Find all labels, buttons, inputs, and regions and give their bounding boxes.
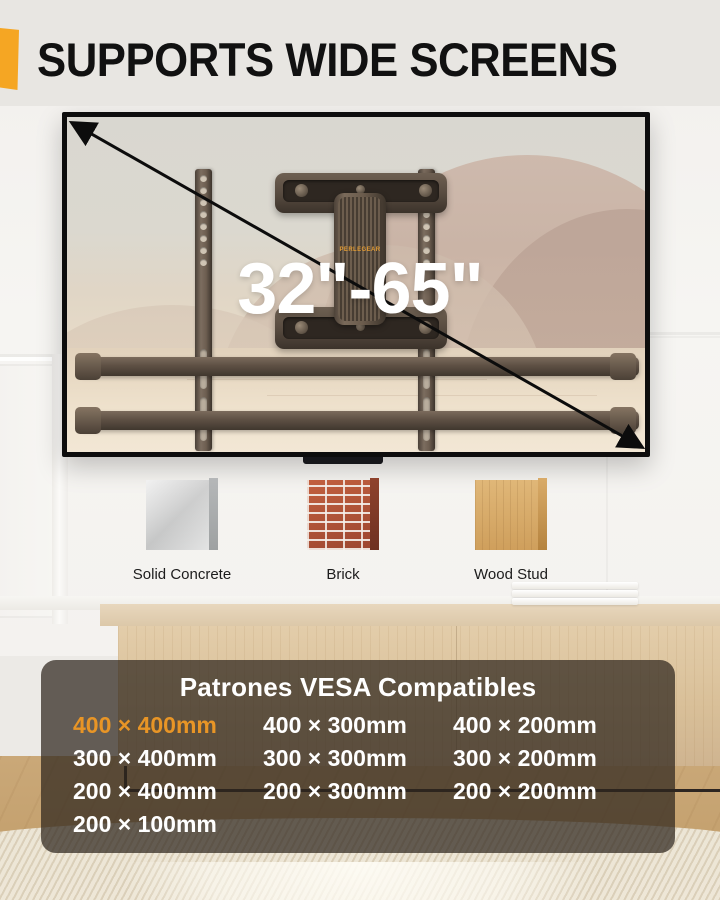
vesa-pattern: 200 × 100mm [73,808,263,841]
page-title: SUPPORTS WIDE SCREENS [37,32,617,87]
sand-ridge [187,379,487,380]
vesa-pattern: 400 × 200mm [453,709,643,742]
sand-foreground [67,348,645,452]
vesa-row: 200 × 400mm 200 × 300mm 200 × 200mm [73,775,643,808]
vesa-patterns-panel: Patrones VESA Compatibles 400 × 400mm 40… [41,660,675,853]
tv-bottom-tab [303,457,383,464]
product-infographic: SUPPORTS WIDE SCREENS [0,0,720,900]
vesa-pattern: 200 × 400mm [73,775,263,808]
orange-accent-icon [0,28,19,90]
vesa-panel-title: Patrones VESA Compatibles [41,672,675,703]
brick-tile-icon [307,478,379,550]
material-item-concrete: Solid Concrete [92,478,272,583]
vesa-pattern: 300 × 200mm [453,742,643,775]
vesa-pattern: 400 × 400mm [73,709,263,742]
wood-tile-icon [475,478,547,550]
material-label: Solid Concrete [92,566,272,583]
vesa-pattern: 200 × 300mm [263,775,453,808]
vesa-pattern-grid: 400 × 400mm 400 × 300mm 400 × 200mm 300 … [41,709,675,841]
material-item-brick: Brick [253,478,433,583]
rug-pattern [120,862,600,900]
vesa-pattern: 400 × 300mm [263,709,453,742]
mount-bolt [356,185,365,194]
vesa-row: 400 × 400mm 400 × 300mm 400 × 200mm [73,709,643,742]
concrete-tile-icon [146,478,218,550]
material-label: Wood Stud [421,566,601,583]
vesa-pattern: 200 × 200mm [453,775,643,808]
material-label: Brick [253,566,433,583]
screen-size-label: 32"-65" [0,248,720,330]
wall-material-list: Solid Concrete Brick Wood Stud [0,478,720,608]
vesa-row: 200 × 100mm [73,808,643,841]
mount-bolt [295,184,308,197]
material-item-wood-stud: Wood Stud [421,478,601,583]
vesa-pattern: 300 × 400mm [73,742,263,775]
vesa-row: 300 × 400mm 300 × 300mm 300 × 200mm [73,742,643,775]
sand-ridge [267,395,597,396]
vesa-pattern: 300 × 300mm [263,742,453,775]
